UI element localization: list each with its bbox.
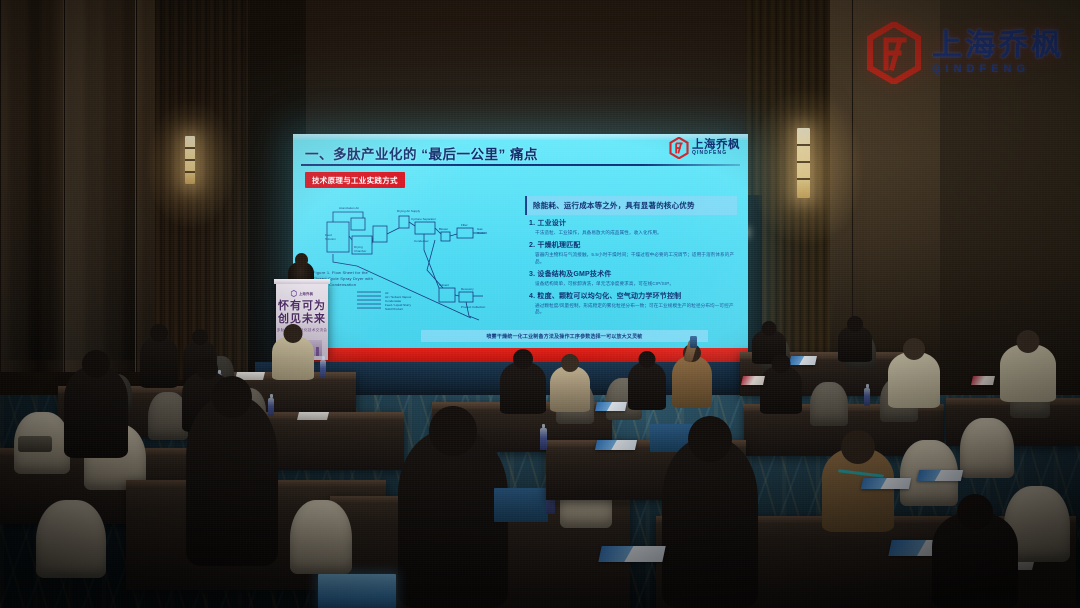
- slide-logo-text: 上海乔枫 QINDFENG: [692, 140, 740, 157]
- smartphone: [690, 336, 697, 348]
- bullet-item: 4. 粒度、颗粒可以均匀化、空气动力学环节控制 通过颗粒度/风量控制，形成稳定的…: [529, 291, 739, 317]
- bullet-item: 3. 设备结构及GMP技术件 设备结构简单，可拆卸清洗，单元洁净度要求高，可在线…: [529, 269, 739, 288]
- audience-member: [932, 512, 1018, 608]
- svg-text:Solution: Solution: [325, 237, 336, 241]
- chair: [36, 500, 106, 578]
- audience-member: [186, 396, 278, 566]
- process-flow-diagram: Atomization Air Drying Air Supply Feed S…: [311, 196, 511, 326]
- chair: [290, 500, 352, 574]
- svg-text:Blower: Blower: [439, 227, 448, 231]
- svg-text:Drying Air Supply: Drying Air Supply: [397, 209, 421, 213]
- bullet-title: 2. 干燥机理匹配: [529, 240, 739, 250]
- notepad: [297, 412, 329, 420]
- slide-bottom-note: 喷雾干燥统一化工业制备方法及操作工序参数选择一可以放大又灵敏: [421, 330, 708, 342]
- qindfeng-wordmark: 上海乔枫 QINDFENG: [932, 30, 1064, 75]
- bullet-body: 通过颗粒度/风量控制，形成稳定的雾化粒径分布一致；可在工业规模生产的粒径分布均一…: [529, 303, 739, 317]
- svg-text:Recovery: Recovery: [461, 287, 474, 291]
- lectern-logo: 上海乔枫: [291, 290, 313, 297]
- brochure: [598, 546, 665, 562]
- slide-canvas: 一、多肽产业化的 “最后一公里” 痛点 上海乔枫 QINDFENG 技术原理与工…: [293, 134, 748, 362]
- wall-logo-en: QINDFENG: [932, 64, 1064, 76]
- bullet-title: 3. 设备结构及GMP技术件: [529, 269, 739, 279]
- svg-text:Filter: Filter: [461, 223, 468, 227]
- projection-screen[interactable]: 一、多肽产业化的 “最后一公里” 痛点 上海乔枫 QINDFENG 技术原理与工…: [293, 134, 748, 362]
- water-bottle: [268, 398, 274, 416]
- qindfeng-wall-logo: 上海乔枫 QINDFENG: [866, 22, 1064, 84]
- brochure: [861, 478, 911, 489]
- slide-logo-en: QINDFENG: [692, 151, 740, 156]
- audience-member: [272, 336, 314, 380]
- bullet-title: 4. 粒度、颗粒可以均匀化、空气动力学环节控制: [529, 291, 739, 301]
- brochure: [789, 356, 817, 365]
- bullet-title: 1. 工业设计: [529, 218, 739, 228]
- wall-sconce-left: [185, 136, 195, 184]
- svg-text:Outlet: Outlet: [477, 231, 485, 235]
- slide-bullet-list: 1. 工业设计 干法造粒、工业操作，具备易放大的成品属性，收入化作用。 2. 干…: [529, 218, 739, 319]
- audience-member: [550, 366, 590, 412]
- svg-text:Condenser: Condenser: [414, 239, 429, 243]
- brochure: [917, 470, 963, 481]
- bullet-item: 1. 工业设计 干法造粒、工业操作，具备易放大的成品属性，收入化作用。: [529, 218, 739, 237]
- svg-text:Solid Product: Solid Product: [385, 307, 403, 311]
- slide-content-heading: 除能耗、运行成本等之外，具有显著的核心优势: [525, 196, 737, 215]
- audience-member: [838, 326, 872, 362]
- lectern-top: [274, 279, 330, 284]
- lectern-headline: 怀有可为 创见未来: [276, 300, 328, 325]
- bullet-body: 设备结构简单，可拆卸清洗，单元洁净度要求高，可在线CIP/SIP。: [529, 281, 739, 288]
- water-bottle: [320, 360, 326, 378]
- wall-panel-1: [0, 0, 64, 372]
- chair: [810, 382, 848, 426]
- slide-hex-icon: [669, 137, 689, 159]
- audience-member-with-phone: [672, 356, 712, 408]
- lectern-headline-line1: 怀有可为: [278, 300, 326, 312]
- brochure: [741, 376, 765, 385]
- svg-text:Cyclone Separator: Cyclone Separator: [411, 217, 436, 221]
- audience-member: [140, 336, 178, 388]
- brochure: [971, 376, 995, 385]
- slide-section-tag: 技术原理与工业实践方式: [305, 172, 405, 188]
- lectern-hex-icon: [291, 290, 297, 297]
- audience-member: [888, 352, 940, 408]
- conference-room-photo: 上海乔枫 QINDFENG 一、多肽产业化的 “最后一公里” 痛点 上海乔枫 Q…: [0, 0, 1080, 608]
- laptop-screen[interactable]: [494, 488, 548, 522]
- handbag: [18, 436, 52, 452]
- svg-text:Solvent: Solvent: [439, 283, 449, 287]
- water-bottle: [864, 388, 870, 406]
- lectern-logo-text: 上海乔枫: [299, 291, 313, 296]
- water-bottle: [540, 428, 547, 450]
- wall-sconce-right: [797, 128, 810, 198]
- bullet-body: 容器内主物料与气流接触，5.5小时干燥时间；干燥过程中必要的工况调节；适用于溶剂…: [529, 252, 739, 266]
- chair: [960, 418, 1014, 478]
- svg-text:Product Collection: Product Collection: [461, 305, 486, 309]
- audience-member: [760, 366, 802, 414]
- bullet-item: 2. 干燥机理匹配 容器内主物料与气流接触，5.5小时干燥时间；干燥过程中必要的…: [529, 240, 739, 266]
- audience-member: [64, 366, 128, 458]
- presenter-head: [295, 253, 308, 267]
- audience-member: [1000, 344, 1056, 402]
- audience-member: [822, 448, 894, 532]
- slide-logo: 上海乔枫 QINDFENG: [669, 137, 740, 159]
- brochure: [595, 402, 627, 411]
- audience-member: [628, 362, 666, 410]
- audience-member: [500, 362, 546, 414]
- svg-text:Chamber: Chamber: [354, 249, 366, 253]
- bullet-body: 干法造粒、工业操作，具备易放大的成品属性，收入化作用。: [529, 230, 739, 237]
- slide-title-rule: [301, 164, 740, 166]
- laptop-screen[interactable]: [318, 574, 396, 608]
- qindfeng-hex-mark: [866, 22, 922, 84]
- wall-panel-2: [64, 0, 136, 372]
- wall-logo-cn: 上海乔枫: [932, 30, 1064, 62]
- brochure: [595, 440, 637, 450]
- lectern-headline-line2: 创见未来: [278, 313, 326, 325]
- slide-title: 一、多肽产业化的 “最后一公里” 痛点: [305, 143, 538, 163]
- svg-text:Atomization Air: Atomization Air: [339, 206, 359, 210]
- audience-member: [662, 438, 758, 608]
- audience-member: [398, 430, 508, 608]
